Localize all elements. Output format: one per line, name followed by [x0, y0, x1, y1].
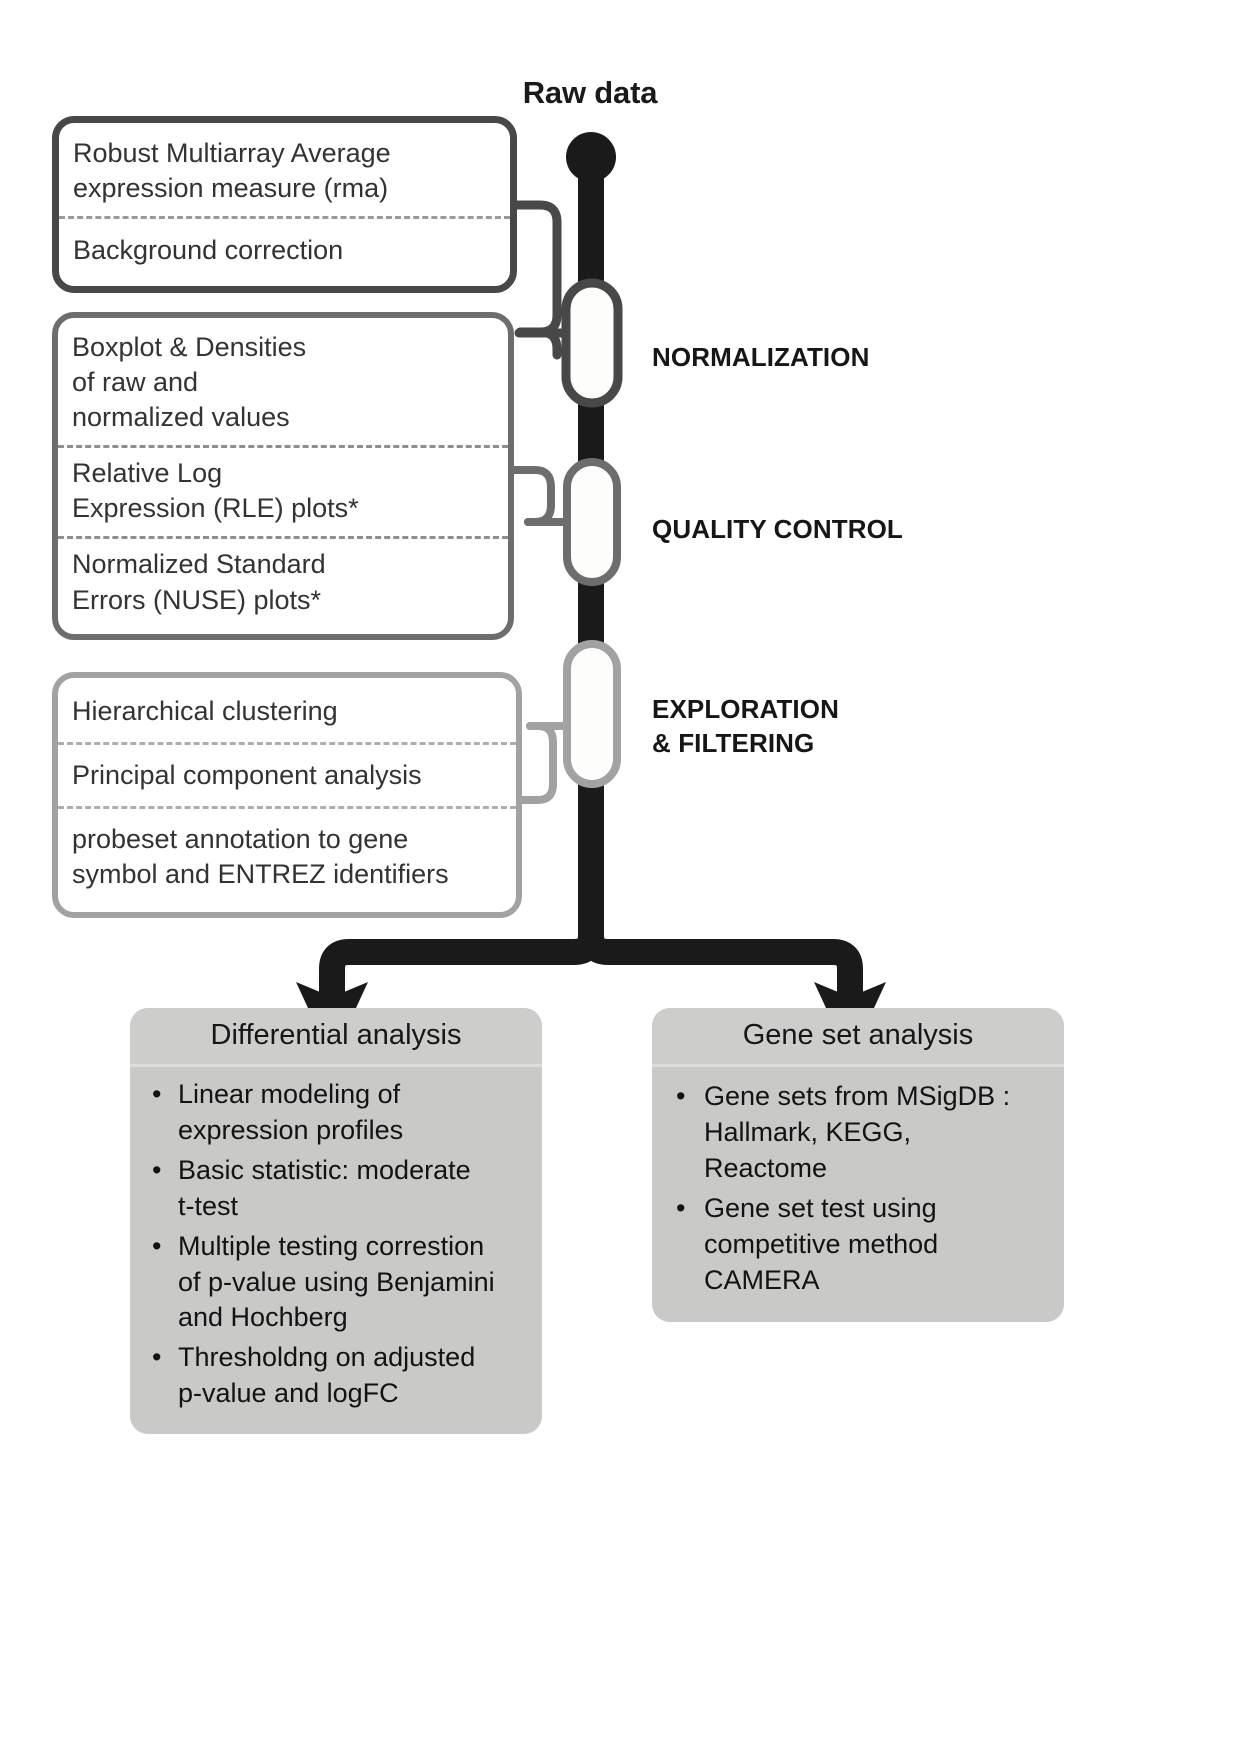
bullet-icon: • [152, 1077, 161, 1113]
list-item: •Multiple testing correstion of p-value … [148, 1229, 526, 1337]
connector-normalization [512, 205, 557, 355]
panel-bullet-list: •Gene sets from MSigDB : Hallmark, KEGG,… [652, 1067, 1064, 1322]
list-item-text: Gene set test using competitive method C… [704, 1193, 938, 1295]
list-item: •Gene set test using competitive method … [670, 1191, 1048, 1299]
output-panel-gene-set-analysis: Gene set analysis •Gene sets from MSigDB… [652, 1008, 1064, 1322]
stage-label-quality-control: QUALITY CONTROL [652, 512, 903, 546]
stage-card-row: Relative Log Expression (RLE) plots* [58, 445, 508, 536]
page-title: Raw data [470, 75, 710, 111]
stage-card-row: probeset annotation to gene symbol and E… [58, 806, 516, 912]
stage-pill-quality-control [567, 462, 617, 582]
list-item: •Thresholdng on adjusted p-value and log… [148, 1340, 526, 1412]
bullet-icon: • [152, 1340, 161, 1376]
branch-left-arrow [332, 905, 591, 1000]
spine-group [578, 150, 604, 908]
list-item: •Basic statistic: moderate t-test [148, 1153, 526, 1225]
list-item-text: Multiple testing correstion of p-value u… [178, 1231, 495, 1333]
list-item: •Linear modeling of expression profiles [148, 1077, 526, 1149]
stage-card-row: Boxplot & Densities of raw and normalize… [58, 318, 508, 445]
stage-label-normalization: NORMALIZATION [652, 340, 869, 374]
bullet-icon: • [152, 1153, 161, 1189]
stage-card-quality-control: Boxplot & Densities of raw and normalize… [52, 312, 514, 640]
spine-segment-top [578, 150, 604, 290]
bullet-icon: • [152, 1229, 161, 1265]
list-item-text: Thresholdng on adjusted p-value and logF… [178, 1342, 475, 1408]
output-panel-differential-analysis: Differential analysis •Linear modeling o… [130, 1008, 542, 1434]
start-node-dot [566, 132, 616, 182]
stage-pill-normalization [566, 283, 618, 403]
list-item: •Gene sets from MSigDB : Hallmark, KEGG,… [670, 1079, 1048, 1187]
panel-title: Gene set analysis [652, 1008, 1064, 1067]
list-item-text: Linear modeling of expression profiles [178, 1079, 403, 1145]
stage-card-row: Background correction [59, 216, 510, 286]
stage-card-row: Hierarchical clustering [58, 678, 516, 742]
panel-title: Differential analysis [130, 1008, 542, 1067]
stage-card-row: Normalized Standard Errors (NUSE) plots* [58, 536, 508, 633]
bullet-icon: • [676, 1191, 685, 1227]
stage-pill-exploration [567, 644, 617, 784]
spine-segment-bottom [578, 778, 604, 908]
stage-card-normalization: Robust Multiarray Average expression mea… [52, 116, 517, 293]
list-item-text: Gene sets from MSigDB : Hallmark, KEGG, … [704, 1081, 1010, 1183]
stage-card-row: Principal component analysis [58, 742, 516, 806]
connector-exploration [520, 726, 553, 800]
branch-right-arrow [591, 905, 850, 1000]
stage-card-exploration-filtering: Hierarchical clustering Principal compon… [52, 672, 522, 918]
panel-bullet-list: •Linear modeling of expression profiles … [130, 1067, 542, 1434]
connector-quality-control [512, 470, 551, 522]
list-item-text: Basic statistic: moderate t-test [178, 1155, 471, 1221]
spine-segment-mid-2 [578, 580, 604, 652]
bullet-icon: • [676, 1079, 685, 1115]
stage-label-exploration-filtering: EXPLORATION & FILTERING [652, 692, 839, 761]
stage-card-row: Robust Multiarray Average expression mea… [59, 123, 510, 216]
spine-segment-mid-1 [578, 395, 604, 470]
